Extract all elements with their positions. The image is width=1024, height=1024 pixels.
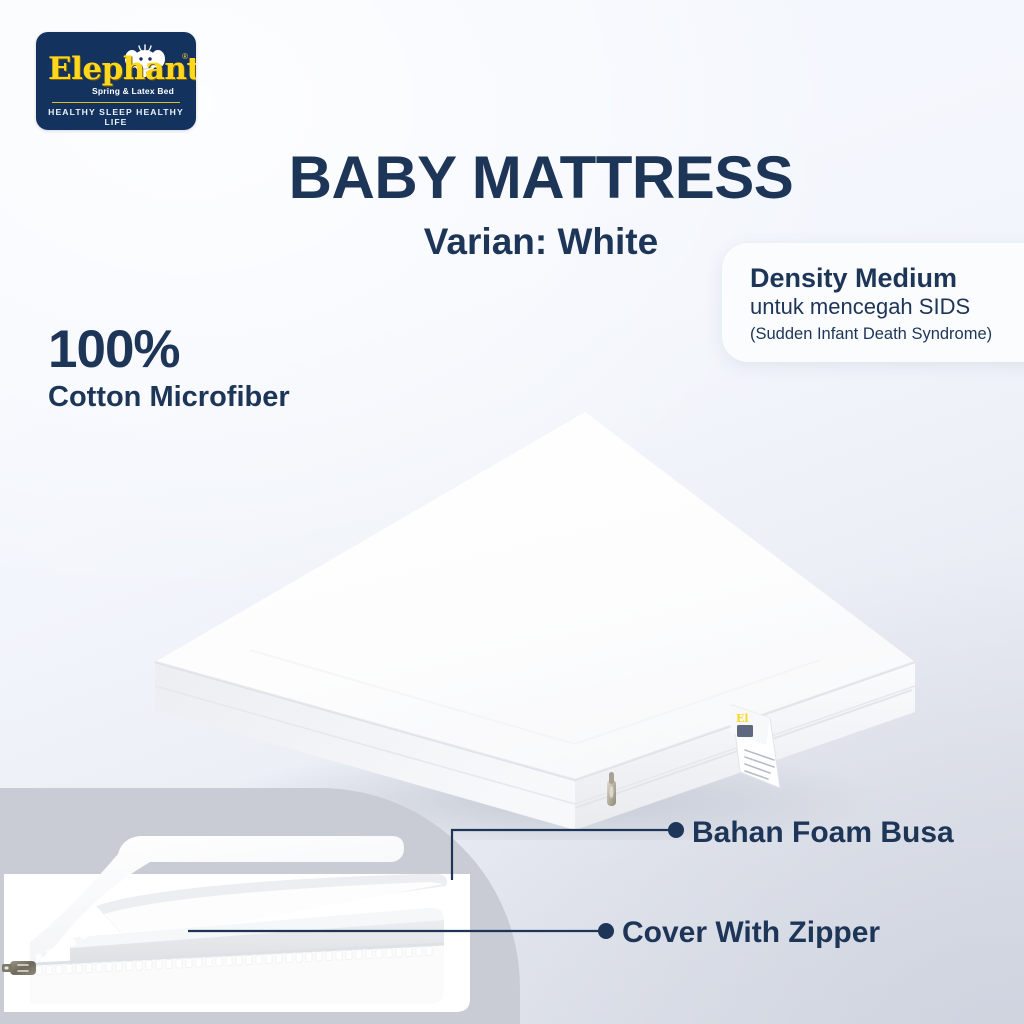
- product-banner: Elephant ® Spring & Latex Bed HEALTHY SL…: [0, 0, 1024, 1024]
- density-badge-subtitle: untuk mencegah SIDS: [750, 294, 1024, 320]
- brand-logo-inner: Elephant ® Spring & Latex Bed HEALTHY SL…: [36, 32, 196, 130]
- callout-label-foam: Bahan Foam Busa: [692, 818, 954, 848]
- callout-label-zipper: Cover With Zipper: [622, 918, 880, 948]
- density-badge-title: Density Medium: [750, 263, 1024, 293]
- logo-wordmark: Elephant: [48, 54, 184, 85]
- material-percent: 100%: [48, 323, 180, 376]
- product-photo-mattress: El: [120, 400, 960, 840]
- logo-divider: [52, 102, 180, 103]
- logo-registered-mark: ®: [182, 52, 188, 61]
- logo-subtitle: Spring & Latex Bed: [36, 86, 196, 96]
- svg-text:El: El: [736, 712, 749, 725]
- brand-logo[interactable]: Elephant ® Spring & Latex Bed HEALTHY SL…: [36, 32, 196, 130]
- logo-tagline: HEALTHY SLEEP HEALTHY LIFE: [36, 107, 196, 127]
- page-title: BABY MATTRESS: [0, 148, 1024, 208]
- connector-dot-zipper: [598, 923, 614, 939]
- inset-cutaway-illustration: [0, 814, 520, 1024]
- density-badge: Density Medium untuk mencegah SIDS (Sudd…: [722, 243, 1024, 362]
- density-badge-note: (Sudden Infant Death Syndrome): [750, 325, 1024, 345]
